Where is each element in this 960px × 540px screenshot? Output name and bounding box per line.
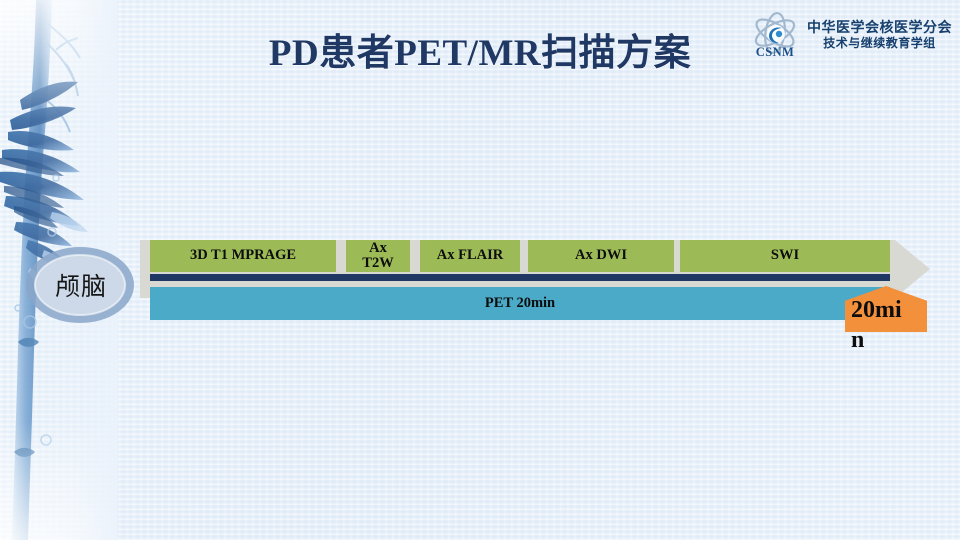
timeline-divider bbox=[150, 274, 890, 281]
scan-protocol-diagram: 颅脑 3D T1 MPRAGE Ax T2W Ax FLAIR Ax DWI S… bbox=[0, 0, 960, 540]
mr-sequence-bar-ax-dwi[interactable]: Ax DWI bbox=[528, 240, 674, 272]
mr-sequence-bar-ax-flair[interactable]: Ax FLAIR bbox=[420, 240, 520, 272]
mr-sequence-bar-swi[interactable]: SWI bbox=[680, 240, 890, 272]
pet-acquisition-bar[interactable]: PET 20min bbox=[150, 287, 890, 320]
mr-sequence-label: Ax bbox=[369, 241, 387, 256]
mr-sequence-row: 3D T1 MPRAGE Ax T2W Ax FLAIR Ax DWI SWI bbox=[150, 240, 890, 272]
organ-label: 颅脑 bbox=[18, 245, 142, 325]
total-time-tag: 20min bbox=[845, 286, 927, 332]
mr-sequence-bar-ax-t2w[interactable]: Ax T2W bbox=[346, 240, 410, 272]
mr-sequence-label: SWI bbox=[771, 248, 799, 263]
mr-sequence-label: Ax DWI bbox=[575, 248, 627, 263]
mr-sequence-label-line2: T2W bbox=[362, 256, 393, 271]
mr-sequence-label: 3D T1 MPRAGE bbox=[190, 248, 296, 263]
total-time-label: 20min bbox=[851, 295, 907, 355]
slide-canvas: CSNM 中华医学会核医学分会 技术与继续教育学组 PD患者PET/MR扫描方案… bbox=[0, 0, 960, 540]
pet-label: PET 20min bbox=[485, 295, 555, 312]
mr-sequence-bar-3d-t1-mprage[interactable]: 3D T1 MPRAGE bbox=[150, 240, 336, 272]
mr-sequence-label: Ax FLAIR bbox=[437, 248, 503, 263]
organ-marker: 颅脑 bbox=[18, 245, 142, 325]
